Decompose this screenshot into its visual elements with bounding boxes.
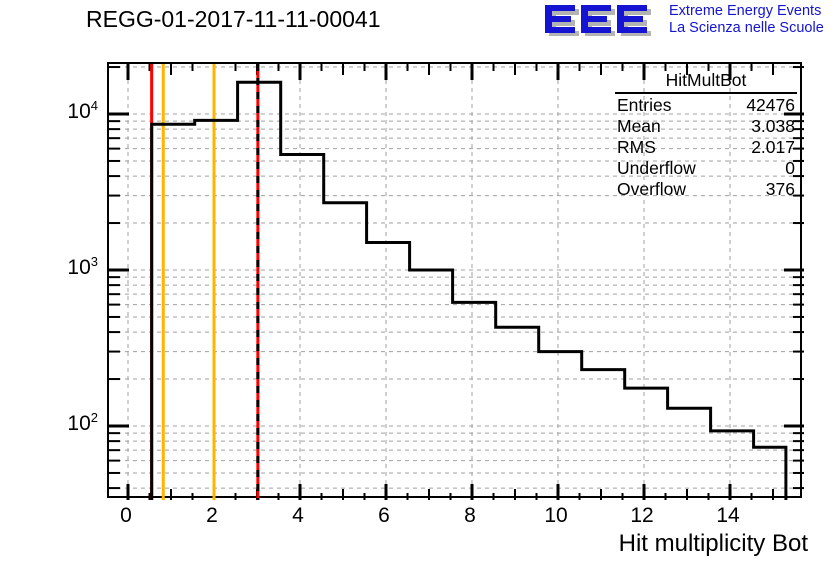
- stats-row: Entries42476: [613, 95, 799, 116]
- stats-row-key: Mean: [617, 116, 661, 137]
- stats-row-key: Underflow: [617, 158, 696, 179]
- x-axis-ticklabel: 8: [445, 504, 495, 528]
- stats-box-title: HitMultBot: [615, 68, 797, 94]
- y-axis-ticklabel: 103: [20, 254, 98, 280]
- x-axis-ticklabel: 0: [101, 504, 151, 528]
- chart-canvas: REGG-01-2017-11-11-00041 Extreme Energy …: [0, 0, 836, 572]
- x-axis-ticklabel: 12: [617, 504, 667, 528]
- stats-row-key: RMS: [617, 137, 656, 158]
- eee-logo-mark-icon: [541, 4, 661, 36]
- x-axis-ticklabel: 6: [359, 504, 409, 528]
- y-tick-exponent: 3: [91, 254, 98, 269]
- x-axis-title: Hit multiplicity Bot: [619, 530, 808, 558]
- stats-box: HitMultBot Entries42476Mean3.038RMS2.017…: [613, 68, 799, 208]
- stats-row-value: 2.017: [751, 137, 795, 158]
- stats-row-value: 376: [766, 179, 795, 200]
- stats-row: RMS2.017: [613, 137, 799, 158]
- stats-row-value: 3.038: [751, 116, 795, 137]
- y-tick-mantissa: 10: [67, 412, 90, 435]
- eee-logo-text: Extreme Energy Events La Scienza nelle S…: [669, 3, 824, 37]
- x-axis-ticklabel: 10: [531, 504, 581, 528]
- stats-row-key: Entries: [617, 95, 671, 116]
- stats-row: Mean3.038: [613, 116, 799, 137]
- stats-row-value: 0: [785, 158, 795, 179]
- x-axis-ticklabel: 4: [273, 504, 323, 528]
- y-axis-ticklabel: 104: [20, 98, 98, 124]
- y-axis-ticklabel: 102: [20, 410, 98, 436]
- stats-row-value: 42476: [746, 95, 795, 116]
- eee-logo-line1: Extreme Energy Events: [669, 3, 824, 20]
- y-tick-mantissa: 10: [67, 100, 90, 123]
- y-tick-exponent: 2: [91, 410, 98, 425]
- stats-row-key: Overflow: [617, 179, 686, 200]
- stats-row: Underflow0: [613, 158, 799, 179]
- stats-row: Overflow376: [613, 179, 799, 200]
- y-tick-mantissa: 10: [67, 256, 90, 279]
- page-title: REGG-01-2017-11-11-00041: [86, 6, 381, 33]
- x-axis-ticklabel: 14: [703, 504, 753, 528]
- y-tick-exponent: 4: [91, 98, 98, 113]
- x-axis-ticklabel: 2: [187, 504, 237, 528]
- eee-logo-line2: La Scienza nelle Scuole: [669, 20, 824, 37]
- eee-logo: Extreme Energy Events La Scienza nelle S…: [541, 2, 833, 38]
